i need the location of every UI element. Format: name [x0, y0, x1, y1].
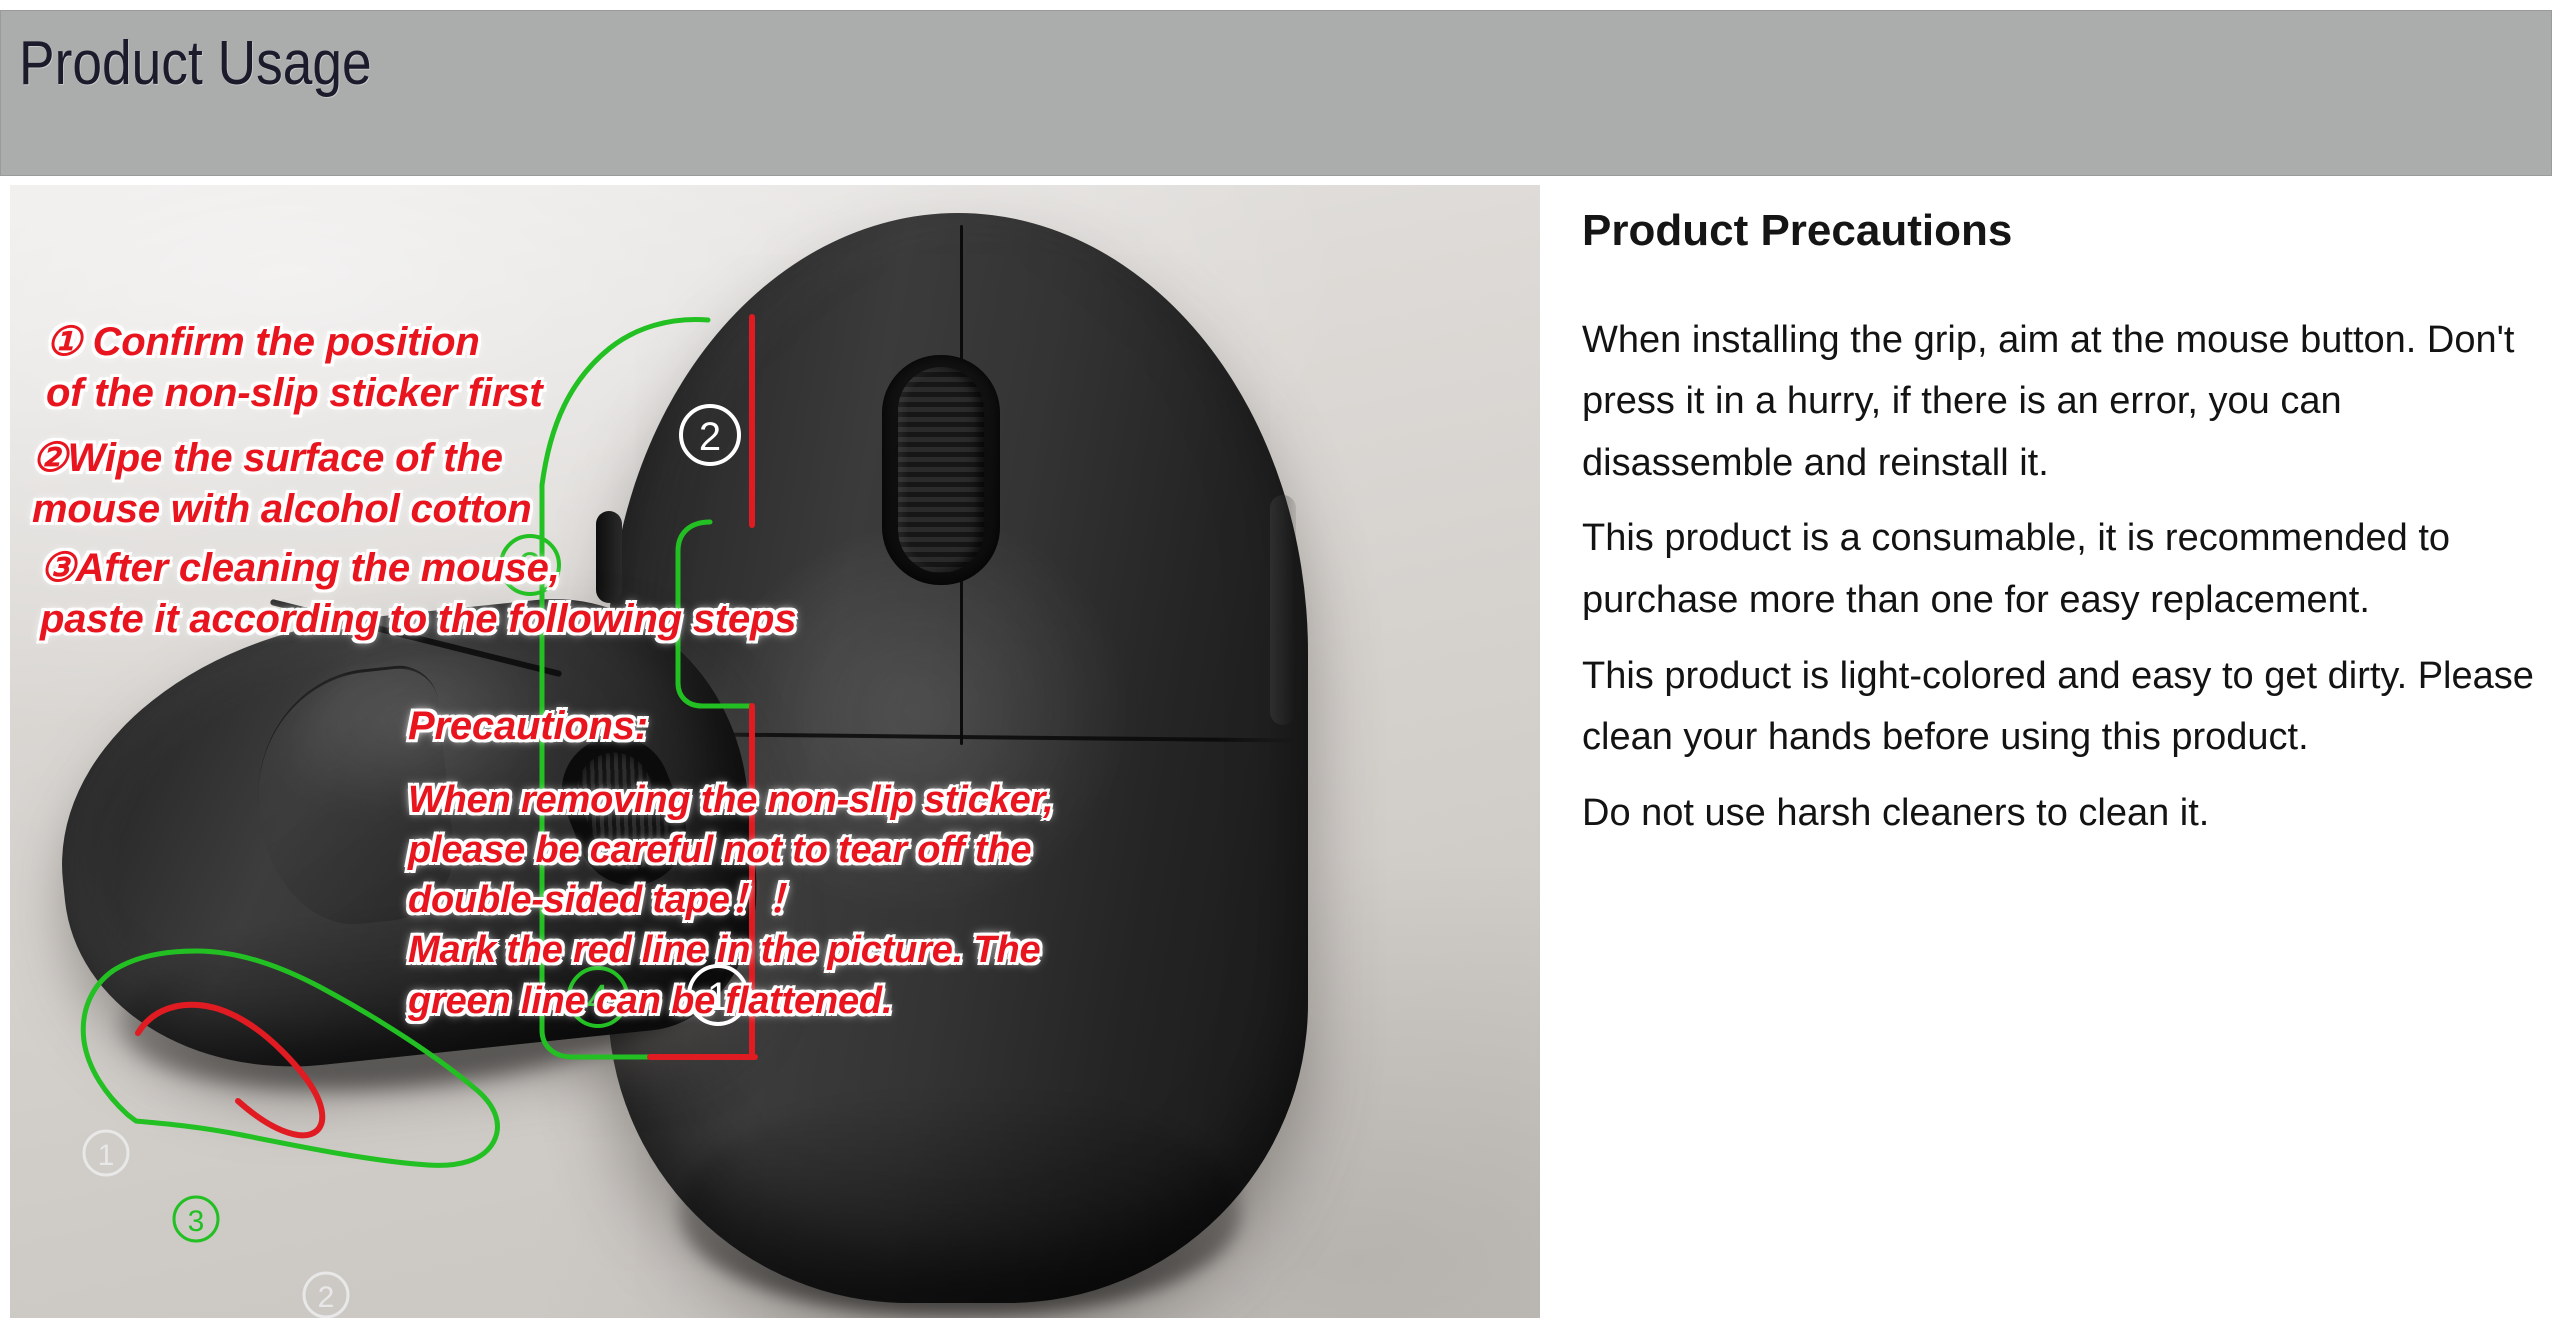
product-usage-photo: 2 3 4 1 1 3 2 ① Confi — [10, 185, 1540, 1318]
angled-view-marker-3: 3 — [174, 1197, 218, 1241]
usage-step-2-text: ②Wipe the surface of the mouse with alco… — [32, 433, 531, 535]
product-precautions-heading: Product Precautions — [1582, 205, 2542, 258]
precaution-paragraph-4: Do not use harsh cleaners to clean it. — [1582, 783, 2542, 845]
product-precautions-panel: Product Precautions When installing the … — [1582, 205, 2542, 858]
photo-precautions-heading: Precautions: — [408, 702, 648, 750]
usage-step-3-text: ③After cleaning the mouse, paste it acco… — [40, 543, 796, 645]
angled-view-marker-2: 2 — [304, 1273, 348, 1317]
svg-text:2: 2 — [318, 1281, 335, 1314]
precaution-paragraph-3: This product is light-colored and easy t… — [1582, 646, 2542, 769]
mouse-top-right-seam — [1270, 495, 1296, 725]
page-title: Product Usage — [19, 33, 372, 95]
precaution-paragraph-1: When installing the grip, aim at the mou… — [1582, 310, 2542, 495]
page-header-bar: Product Usage — [0, 10, 2552, 176]
mouse-top-scroll-wheel — [898, 367, 984, 573]
usage-step-1-text: ① Confirm the position of the non-slip s… — [46, 317, 543, 419]
photo-precautions-text: When removing the non-slip sticker, plea… — [408, 775, 1053, 1026]
precaution-paragraph-2: This product is a consumable, it is reco… — [1582, 508, 2542, 631]
svg-text:3: 3 — [188, 1205, 205, 1238]
